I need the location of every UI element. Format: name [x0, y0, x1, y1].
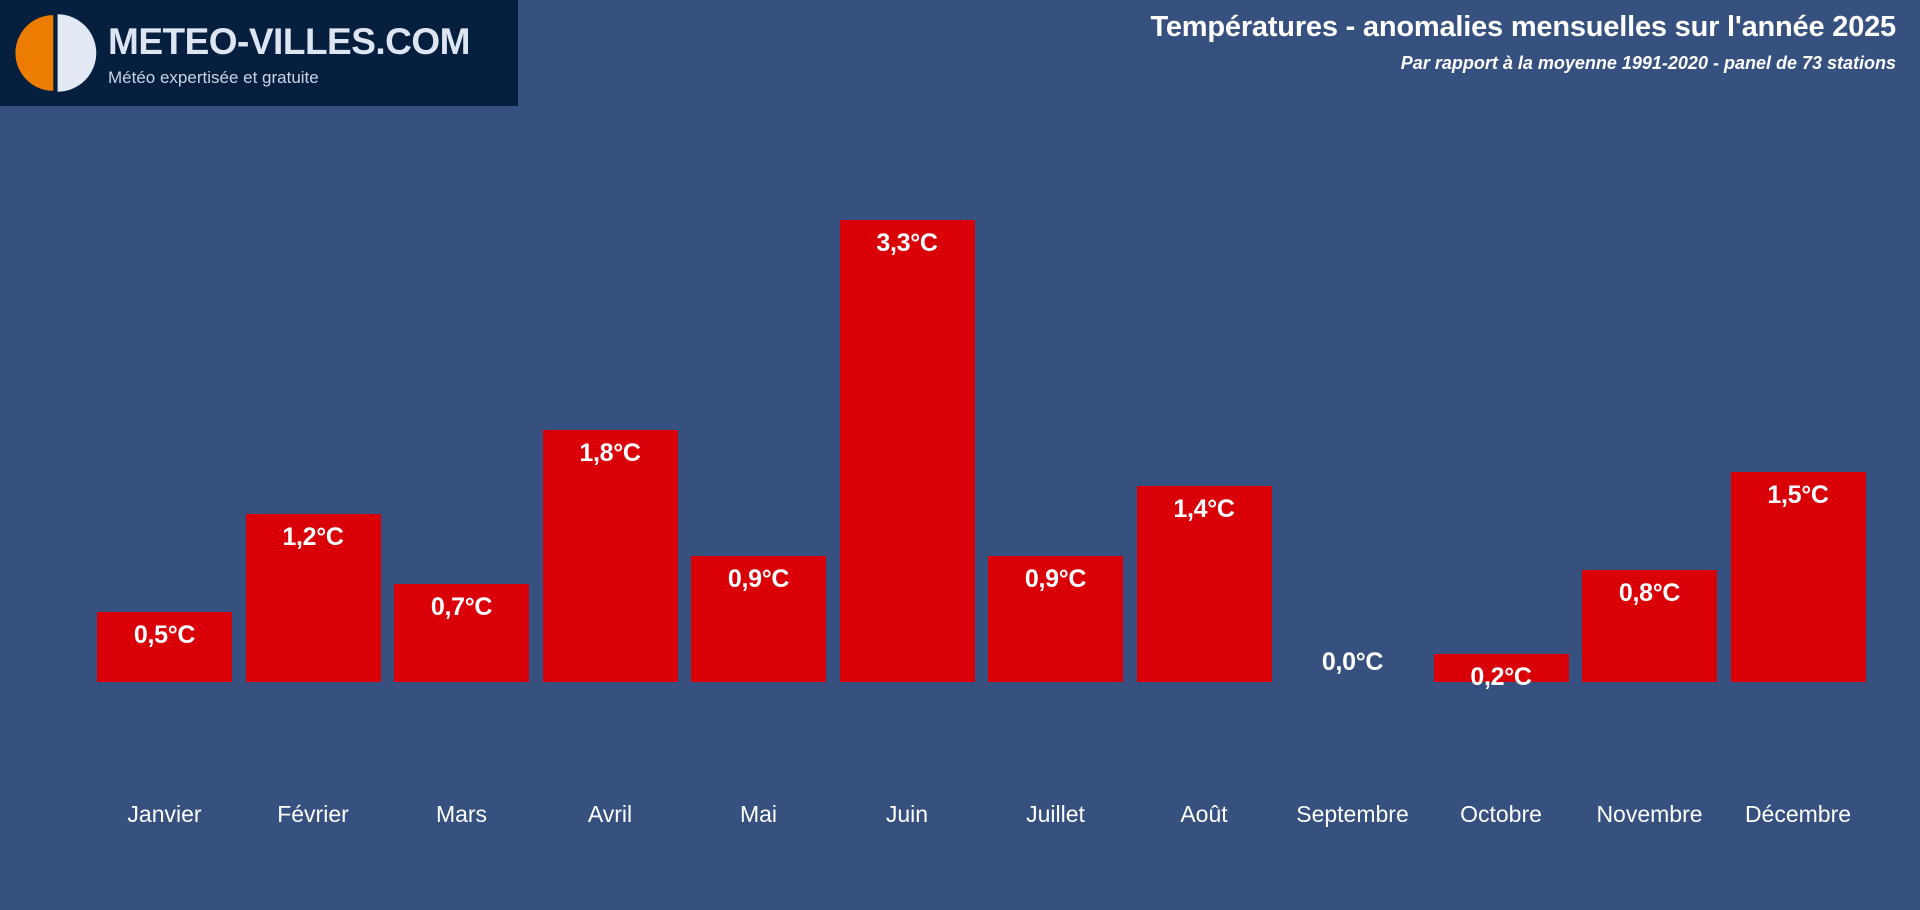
x-axis-label-septembre: Septembre	[1269, 803, 1436, 826]
x-axis-label-avril: Avril	[527, 803, 694, 826]
x-axis-label-novembre: Novembre	[1566, 803, 1733, 826]
chart-plot-area: 0,5°CJanvier1,2°CFévrier0,7°CMars1,8°CAv…	[0, 108, 1920, 910]
bar-juillet[interactable]: 0,9°C	[988, 556, 1123, 682]
brand-tagline: Météo expertisée et gratuite	[108, 69, 470, 86]
bar-décembre[interactable]: 1,5°C	[1731, 472, 1866, 682]
x-axis-label-janvier: Janvier	[81, 803, 248, 826]
bar-août[interactable]: 1,4°C	[1137, 486, 1272, 682]
x-axis-label-décembre: Décembre	[1715, 803, 1882, 826]
split-circle-icon	[12, 10, 98, 96]
chart-subtitle: Par rapport à la moyenne 1991-2020 - pan…	[1151, 54, 1896, 74]
x-axis-label-juillet: Juillet	[972, 803, 1139, 826]
bar-octobre[interactable]: 0,2°C	[1434, 654, 1569, 682]
bar-group-février: 1,2°CFévrier	[246, 108, 381, 910]
bar-value-label: 3,3°C	[876, 220, 937, 258]
bar-group-août: 1,4°CAoût	[1137, 108, 1272, 910]
bar-group-juin: 3,3°CJuin	[840, 108, 975, 910]
bar-value-label: 0,5°C	[134, 612, 195, 650]
bar-février[interactable]: 1,2°C	[246, 514, 381, 682]
bar-group-juillet: 0,9°CJuillet	[988, 108, 1123, 910]
x-axis-label-juin: Juin	[824, 803, 991, 826]
bar-mars[interactable]: 0,7°C	[394, 584, 529, 682]
bar-group-novembre: 0,8°CNovembre	[1582, 108, 1717, 910]
brand-name: METEO-VILLES.COM	[108, 23, 470, 60]
bar-value-label: 0,9°C	[728, 556, 789, 594]
x-axis-label-février: Février	[230, 803, 397, 826]
x-axis-label-août: Août	[1121, 803, 1288, 826]
bar-value-label: 1,8°C	[579, 430, 640, 468]
bar-mai[interactable]: 0,9°C	[691, 556, 826, 682]
bar-janvier[interactable]: 0,5°C	[97, 612, 232, 682]
title-block: Températures - anomalies mensuelles sur …	[1151, 12, 1896, 74]
bar-value-label: 0,2°C	[1470, 654, 1531, 692]
chart-title: Températures - anomalies mensuelles sur …	[1151, 12, 1896, 44]
bar-group-septembre: 0,0°CSeptembre	[1285, 108, 1420, 910]
brand-text-block: METEO-VILLES.COM Météo expertisée et gra…	[108, 21, 470, 86]
bar-group-décembre: 1,5°CDécembre	[1731, 108, 1866, 910]
x-axis-label-octobre: Octobre	[1418, 803, 1585, 826]
bar-group-octobre: 0,2°COctobre	[1434, 108, 1569, 910]
x-axis-label-mars: Mars	[378, 803, 545, 826]
bar-avril[interactable]: 1,8°C	[543, 430, 678, 682]
bar-value-label: 0,9°C	[1025, 556, 1086, 594]
bar-group-mars: 0,7°CMars	[394, 108, 529, 910]
bar-value-label: 1,4°C	[1173, 486, 1234, 524]
bar-value-label: 1,2°C	[282, 514, 343, 552]
bar-value-label: 0,7°C	[431, 584, 492, 622]
bar-group-avril: 1,8°CAvril	[543, 108, 678, 910]
bar-group-mai: 0,9°CMai	[691, 108, 826, 910]
bar-value-label: 0,0°C	[1322, 648, 1383, 677]
bar-group-janvier: 0,5°CJanvier	[97, 108, 232, 910]
page-header: METEO-VILLES.COM Météo expertisée et gra…	[0, 0, 1920, 108]
brand-logo-band: METEO-VILLES.COM Météo expertisée et gra…	[0, 0, 518, 106]
bar-value-label: 0,8°C	[1619, 570, 1680, 608]
bar-juin[interactable]: 3,3°C	[840, 220, 975, 682]
bar-novembre[interactable]: 0,8°C	[1582, 570, 1717, 682]
x-axis-label-mai: Mai	[675, 803, 842, 826]
bar-value-label: 1,5°C	[1767, 472, 1828, 510]
